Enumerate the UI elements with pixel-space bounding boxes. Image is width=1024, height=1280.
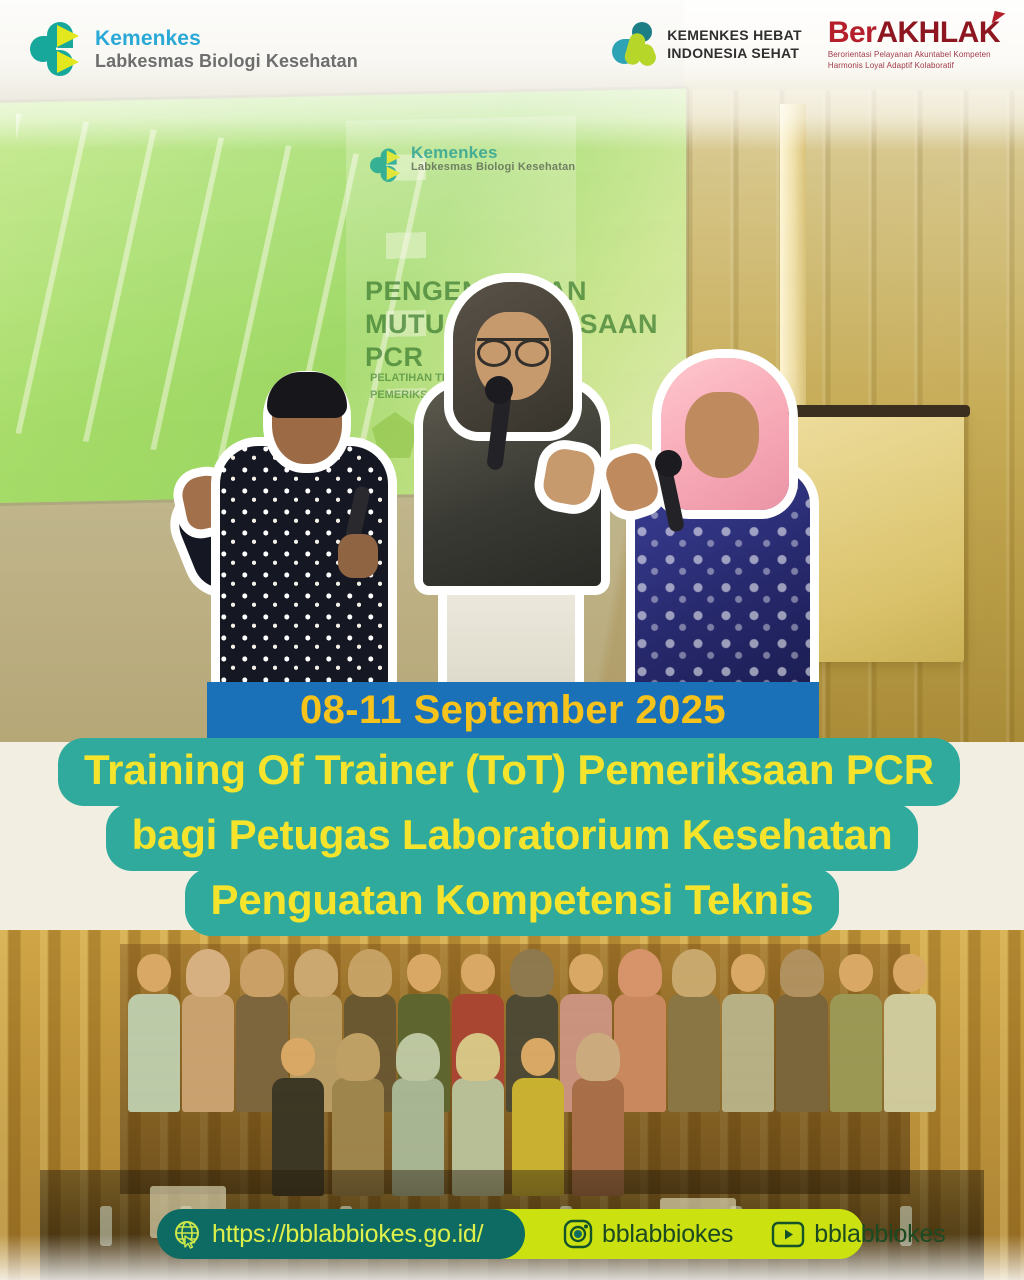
speaker-cutout-right: [605, 350, 850, 690]
berakhlak-prefix: Ber: [828, 16, 877, 49]
speaker-cutout-left: [168, 358, 428, 688]
berakhlak-logo: BerAKHLAK Berorientasi Pelayanan Akuntab…: [828, 18, 1000, 72]
kemenkes-hebat-line1: KEMENKES HEBAT: [667, 27, 802, 45]
youtube-icon: [771, 1221, 805, 1248]
kemenkes-hebat-line2: INDONESIA SEHAT: [667, 45, 802, 63]
youtube-handle: bblabbiokes: [814, 1220, 945, 1249]
globe-cursor-icon: [173, 1219, 203, 1249]
berakhlak-suffix: AKHLAK: [876, 16, 1000, 49]
berakhlak-tick-icon: [992, 11, 1006, 26]
logo-title: Kemenkes: [95, 27, 358, 51]
slide-logo-line2: Labkesmas Biologi Kesehatan: [411, 162, 575, 174]
title-line-2: bagi Petugas Laboratorium Kesehatan: [106, 803, 919, 871]
instagram-item[interactable]: bblabbiokes: [563, 1219, 733, 1249]
seminar-photo: Kemenkes Labkesmas Biologi Kesehatan PEN…: [0, 0, 1024, 742]
berakhlak-tagline-1: Berorientasi Pelayanan Akuntabel Kompete…: [828, 50, 1000, 61]
header-right-logos: KEMENKES HEBAT INDONESIA SEHAT BerAKHLAK…: [610, 18, 1000, 72]
website-pill[interactable]: https://bblabbiokes.go.id/: [157, 1209, 525, 1259]
title-line-1: Training Of Trainer (ToT) Pemeriksaan PC…: [58, 738, 960, 806]
logo-subtitle: Labkesmas Biologi Kesehatan: [95, 51, 358, 71]
speaker-cutout-center: [395, 268, 635, 688]
poster-canvas: Kemenkes Labkesmas Biologi Kesehatan PEN…: [0, 0, 1024, 1280]
poster-header: Kemenkes Labkesmas Biologi Kesehatan KEM…: [0, 0, 1024, 100]
youtube-item[interactable]: bblabbiokes: [771, 1220, 945, 1249]
title-block: Training Of Trainer (ToT) Pemeriksaan PC…: [0, 738, 1024, 936]
date-banner: 08-11 September 2025: [207, 682, 819, 738]
instagram-handle: bblabbiokes: [602, 1220, 733, 1249]
kemenkes-flower-icon: [370, 148, 391, 169]
website-url: https://bblabbiokes.go.id/: [212, 1220, 483, 1249]
instagram-icon: [563, 1219, 593, 1249]
kemenkes-flower-icon: [30, 22, 84, 76]
kemenkes-hebat-icon: [610, 22, 658, 68]
kemenkes-hebat-logo: KEMENKES HEBAT INDONESIA SEHAT: [610, 22, 802, 68]
berakhlak-tagline-2: Harmonis Loyal Adaptif Kolaboratif: [828, 61, 1000, 72]
social-footer: https://bblabbiokes.go.id/ bblabbiokes: [158, 1209, 864, 1259]
kemenkes-labkesmas-logo: Kemenkes Labkesmas Biologi Kesehatan: [30, 22, 358, 76]
date-text: 08-11 September 2025: [300, 688, 726, 733]
title-line-3: Penguatan Kompetensi Teknis: [185, 868, 840, 936]
